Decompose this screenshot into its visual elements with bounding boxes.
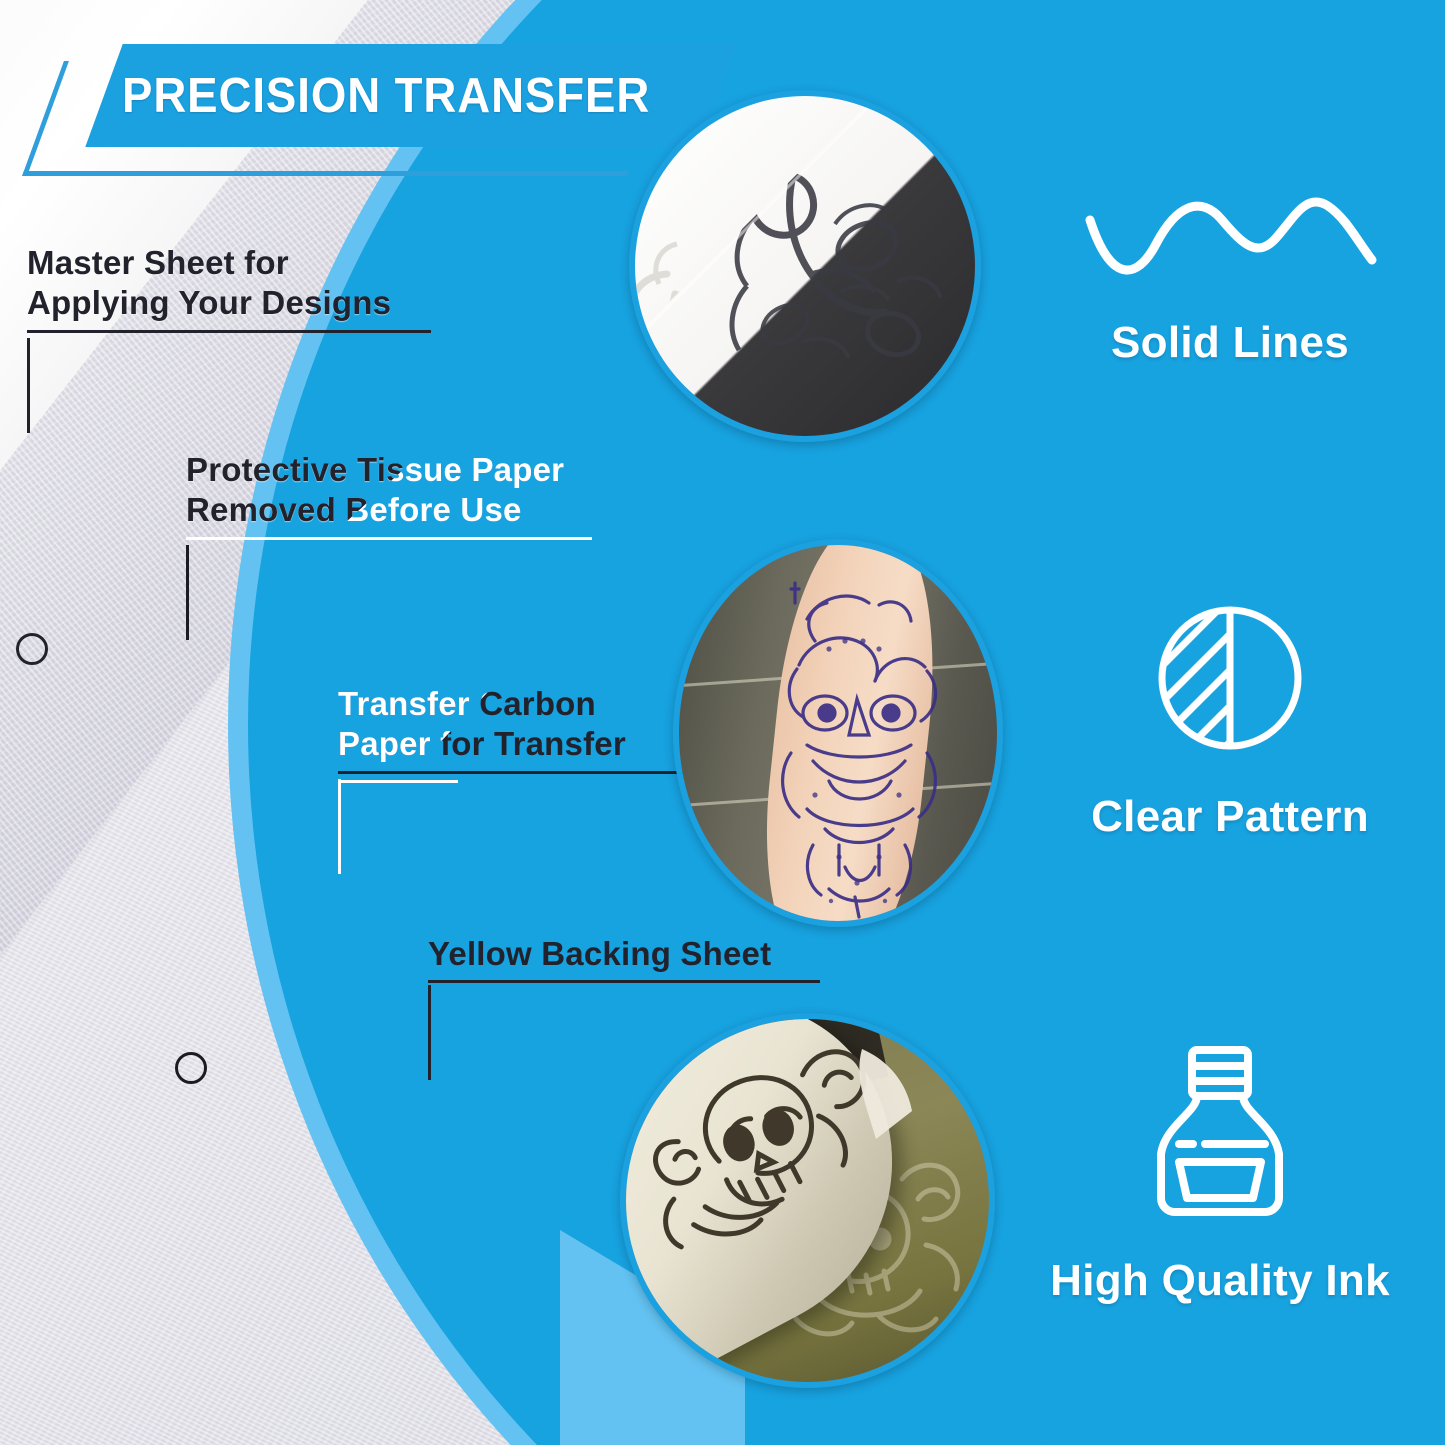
callout-line-1: Yellow Backing Sheet xyxy=(428,935,771,972)
feature-solid-lines: Solid Lines xyxy=(1040,186,1420,368)
photo-2-owl-stencil xyxy=(679,545,997,921)
callout-leader-line xyxy=(428,985,431,1080)
callout-master-sheet: Master Sheet for Applying Your Designs xyxy=(27,243,431,333)
feature-high-quality-ink-label: High Quality Ink xyxy=(1005,1256,1435,1306)
feature-high-quality-ink: High Quality Ink xyxy=(1005,1036,1435,1306)
callout-leader-line xyxy=(186,545,189,640)
photo-3-content xyxy=(626,1019,989,1382)
hatched-circle-icon xyxy=(1154,602,1306,754)
page-title: PRECISION TRANSFER xyxy=(122,57,717,135)
infographic-canvas: PRECISION TRANSFER Master Sheet for Appl… xyxy=(0,0,1445,1445)
paper-curl-highlight xyxy=(859,1049,912,1139)
callout-transfer-carbon-label: Transfer Carbon Paper for Transfer xyxy=(338,684,690,765)
wave-line-icon xyxy=(1080,186,1380,290)
callout-leader-line xyxy=(27,338,30,433)
callout-marker-circle-icon xyxy=(175,1052,207,1084)
callout-line-2: Paper for Transfer xyxy=(338,724,690,764)
callout-protective-tissue: Protective Tissue Paper Removed Before U… xyxy=(186,450,592,540)
callout-leader-line xyxy=(338,779,341,874)
photo-2-content xyxy=(679,545,997,921)
callout-underline xyxy=(186,537,592,540)
photo-1-artwork xyxy=(635,96,975,436)
callout-underline xyxy=(27,330,431,333)
callout-underline xyxy=(428,980,820,983)
callout-underline-white xyxy=(338,780,458,783)
callout-transfer-carbon: Transfer Carbon Paper for Transfer Trans… xyxy=(338,684,690,774)
photo-stencil-snake-floral xyxy=(629,90,981,442)
callout-line-1: Master Sheet for xyxy=(27,244,289,281)
stencil-lines-light-side xyxy=(732,126,941,361)
callout-underline xyxy=(338,771,690,774)
photo-3-skull-stencil xyxy=(626,1019,989,1382)
photo-skull-rose-peel xyxy=(620,1013,995,1388)
callout-yellow-backing-label: Yellow Backing Sheet xyxy=(428,934,820,974)
callout-marker-circle-icon xyxy=(16,633,48,665)
ink-bottle-icon xyxy=(1145,1036,1295,1226)
photo-1-content xyxy=(635,96,975,436)
callout-line-2: Removed Before Use xyxy=(186,490,592,530)
feature-clear-pattern-label: Clear Pattern xyxy=(1040,792,1420,842)
feature-solid-lines-label: Solid Lines xyxy=(1040,318,1420,368)
callout-line-1: Protective Tissue Paper xyxy=(186,451,564,488)
photo-owl-mandala-forearm xyxy=(673,539,1003,927)
callout-protective-tissue-label: Protective Tissue Paper Removed Before U… xyxy=(186,450,592,531)
callout-master-sheet-label: Master Sheet for Applying Your Designs xyxy=(27,243,431,324)
feature-clear-pattern: Clear Pattern xyxy=(1040,602,1420,842)
callout-line-2: Applying Your Designs xyxy=(27,283,431,323)
callout-line-1: Transfer Carbon xyxy=(338,685,596,722)
callout-yellow-backing: Yellow Backing Sheet xyxy=(428,934,820,983)
